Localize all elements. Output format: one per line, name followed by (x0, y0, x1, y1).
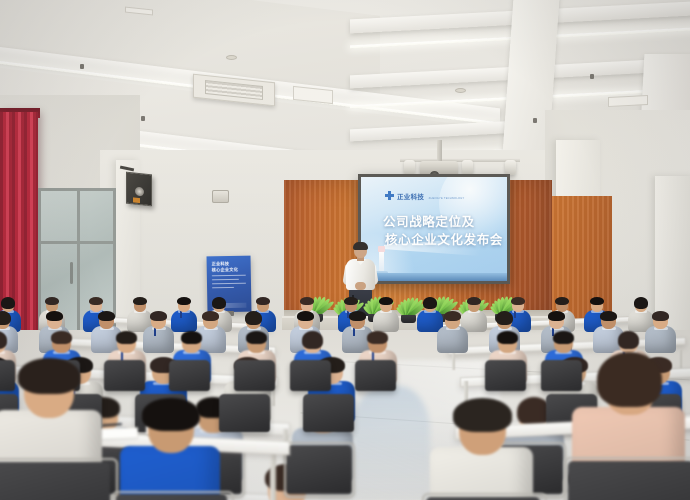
chair-frame (422, 493, 547, 500)
audience-hair (379, 297, 394, 306)
sprinkler-head-icon-4 (533, 118, 537, 123)
chair[interactable] (290, 360, 331, 390)
slide-surface: 正业科技 ZHENGYE TECHNOLOGY 公司战略定位及 核心企业文化发布… (361, 177, 507, 281)
chair[interactable] (104, 360, 145, 390)
audience-hair (548, 311, 565, 322)
audience-hair (300, 297, 315, 306)
floor-reflection-highlight (352, 386, 430, 498)
chair[interactable] (234, 360, 275, 390)
chair[interactable] (169, 360, 210, 390)
sprinkler-head-icon-3 (590, 74, 594, 79)
banner-title: 正业科技 核心企业文化 (212, 261, 239, 273)
audience-hair (51, 331, 72, 344)
audience-torso (143, 326, 174, 353)
audience-hair (344, 297, 359, 306)
chair[interactable] (303, 394, 354, 432)
speaker-tweeter-icon (133, 197, 140, 203)
audience-hair (181, 331, 202, 344)
track-light-2 (462, 160, 473, 175)
chair[interactable] (485, 360, 526, 390)
audience-hair (116, 331, 137, 344)
audience-hair (652, 311, 669, 322)
audience-hair (246, 331, 267, 344)
projection-screen: 正业科技 ZHENGYE TECHNOLOGY 公司战略定位及 核心企业文化发布… (358, 174, 510, 284)
lanyard (154, 328, 156, 336)
audience-hair (177, 297, 192, 306)
chair[interactable] (355, 360, 396, 390)
audience-hair (511, 297, 526, 306)
audience-hair (302, 331, 323, 349)
audience-torso (437, 326, 468, 353)
audience-hair (444, 311, 461, 322)
sprinkler-head-icon (80, 64, 84, 69)
audience-hair (496, 311, 513, 326)
audience-hair (46, 311, 63, 322)
audience-member (372, 296, 400, 332)
track-light-1 (404, 160, 415, 175)
audience-torso (645, 326, 676, 353)
audience-hair (618, 331, 639, 349)
sprinkler-head-icon-2 (141, 116, 145, 121)
lanyard (353, 328, 355, 336)
conference-hall-photo: 正业科技 ZHENGYE TECHNOLOGY 公司战略定位及 核心企业文化发布… (0, 0, 690, 500)
wall-mounted-box (212, 190, 229, 203)
audience-hair (142, 398, 199, 431)
audience-hair (349, 311, 366, 322)
light-track (400, 158, 520, 162)
audience-hair (297, 311, 314, 322)
audience-hair (553, 331, 574, 344)
company-logo-icon (385, 191, 394, 200)
audience-hair (256, 297, 271, 306)
ceiling-air-vent-3 (608, 95, 648, 107)
audience-hair (133, 297, 148, 306)
foreground-attendee-blue (120, 398, 220, 500)
audience-hair (18, 358, 80, 394)
chair-frame (284, 442, 355, 498)
banner-title-line2: 核心企业文化 (212, 267, 238, 272)
audience-hair (497, 331, 518, 344)
door-handle[interactable] (70, 262, 73, 284)
chair-frame (564, 457, 690, 500)
track-light-3 (505, 160, 516, 175)
chair-frame (112, 491, 234, 500)
audience-hair (634, 297, 649, 309)
wall-speaker (126, 172, 152, 207)
audience-hair (423, 297, 438, 309)
audience-hair (555, 297, 570, 306)
slide-logo-text: 正业科技 (397, 194, 424, 201)
audience-hair (202, 311, 219, 322)
audience-hair (245, 311, 262, 326)
smoke-detector-icon-2 (455, 88, 466, 93)
audience-hair (367, 331, 388, 344)
foreground-attendee-center (430, 398, 533, 500)
audience-hair (212, 297, 227, 309)
slide-logo: 正业科技 ZHENGYE TECHNOLOGY (385, 186, 465, 204)
chair[interactable] (219, 394, 270, 432)
audience-member (436, 310, 469, 353)
speaker-cone-icon (135, 187, 144, 197)
audience-hair (45, 297, 60, 306)
audience-hair (453, 398, 512, 432)
chair-frame (0, 458, 118, 500)
audience-hair (89, 297, 104, 306)
audience-hair (600, 311, 617, 322)
audience-hair (150, 311, 167, 322)
audience-hair (590, 297, 605, 306)
audience-hair (1, 297, 16, 309)
audience-hair (597, 352, 662, 407)
plant-pot (401, 315, 416, 323)
audience-hair (0, 331, 7, 349)
slide-title-line1: 公司战略定位及 (383, 215, 475, 229)
slide-logo-subtext: ZHENGYE TECHNOLOGY (429, 197, 465, 200)
banner-title-line1: 正业科技 (212, 261, 230, 266)
audience-hair (98, 311, 115, 322)
audience-hair (467, 297, 482, 306)
lanyard (180, 311, 182, 318)
smoke-detector-icon (226, 55, 237, 60)
